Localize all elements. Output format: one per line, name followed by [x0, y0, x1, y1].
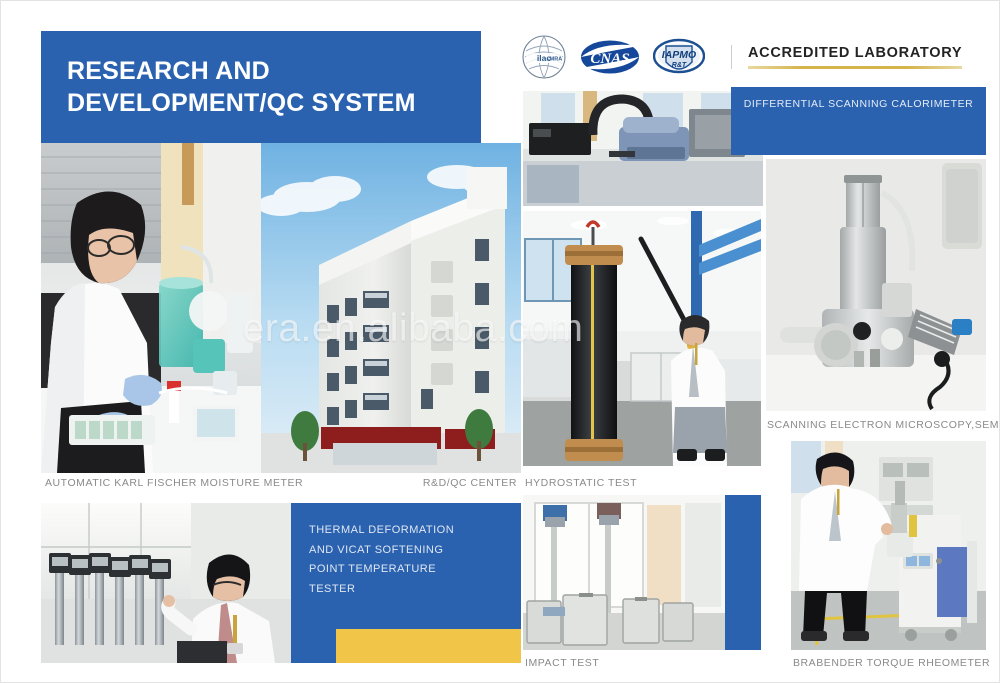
- top-photo-row: [41, 143, 521, 473]
- caption-sem: SCANNING ELECTRON MICROSCOPY,SEM: [767, 419, 999, 431]
- accredited-laboratory-label: ACCREDITED LABORATORY: [748, 45, 962, 61]
- page-title: RESEARCH AND DEVELOPMENT/QC SYSTEM: [41, 55, 416, 119]
- impact-blue-accent-block: [725, 495, 761, 650]
- photo-brabender-torque-rheometer: [791, 441, 986, 650]
- hero-banner: RESEARCH AND DEVELOPMENT/QC SYSTEM: [41, 31, 481, 143]
- photo-vicat-tester: [41, 503, 291, 663]
- vicat-text-panel: THERMAL DEFORMATION AND VICAT SOFTENING …: [291, 503, 521, 663]
- cnas-logo-icon: CNAS: [579, 37, 641, 77]
- caption-row-top: AUTOMATIC KARL FISCHER MOISTURE METER R&…: [41, 477, 521, 489]
- caption-karl-fischer: AUTOMATIC KARL FISCHER MOISTURE METER: [45, 477, 303, 489]
- photo-karl-fischer-lab: [41, 143, 261, 473]
- svg-text:-MRA: -MRA: [548, 57, 562, 63]
- caption-hydrostatic-test: HYDROSTATIC TEST: [525, 477, 637, 489]
- photo-scanning-electron-microscope: [766, 159, 986, 411]
- brochure-page: RESEARCH AND DEVELOPMENT/QC SYSTEM: [0, 0, 1000, 683]
- photo-rd-qc-building: [261, 143, 521, 473]
- photo-differential-scanning-calorimeter: [523, 91, 763, 206]
- caption-impact-test: IMPACT TEST: [525, 657, 599, 669]
- photo-impact-test: [523, 495, 725, 650]
- iapmo-logo-icon: IAPMO R&T: [653, 34, 705, 80]
- ilac-mra-logo-icon: ilac -MRA: [521, 34, 567, 80]
- right-column: ilac -MRA CNAS IAPMO: [521, 29, 986, 659]
- svg-text:CNAS: CNAS: [590, 51, 629, 67]
- accredited-laboratory-block: ACCREDITED LABORATORY: [731, 45, 962, 69]
- svg-text:R&T: R&T: [672, 62, 687, 69]
- yellow-accent-bar: [336, 629, 521, 663]
- bottom-photo-row: THERMAL DEFORMATION AND VICAT SOFTENING …: [41, 503, 521, 663]
- photo-hydrostatic-test: [523, 211, 761, 466]
- dsc-caption-banner: DIFFERENTIAL SCANNING CALORIMETER: [731, 87, 986, 155]
- accreditation-logo-bar: ilac -MRA CNAS IAPMO: [521, 29, 986, 85]
- caption-brabender: BRABENDER TORQUE RHEOMETER: [793, 657, 990, 669]
- left-column: RESEARCH AND DEVELOPMENT/QC SYSTEM: [41, 31, 521, 661]
- gold-underline: [748, 66, 962, 69]
- svg-text:IAPMO: IAPMO: [662, 49, 696, 61]
- caption-dsc: DIFFERENTIAL SCANNING CALORIMETER: [744, 98, 974, 110]
- vicat-panel-text: THERMAL DEFORMATION AND VICAT SOFTENING …: [309, 521, 454, 599]
- caption-rd-qc-center: R&D/QC CENTER: [423, 477, 517, 489]
